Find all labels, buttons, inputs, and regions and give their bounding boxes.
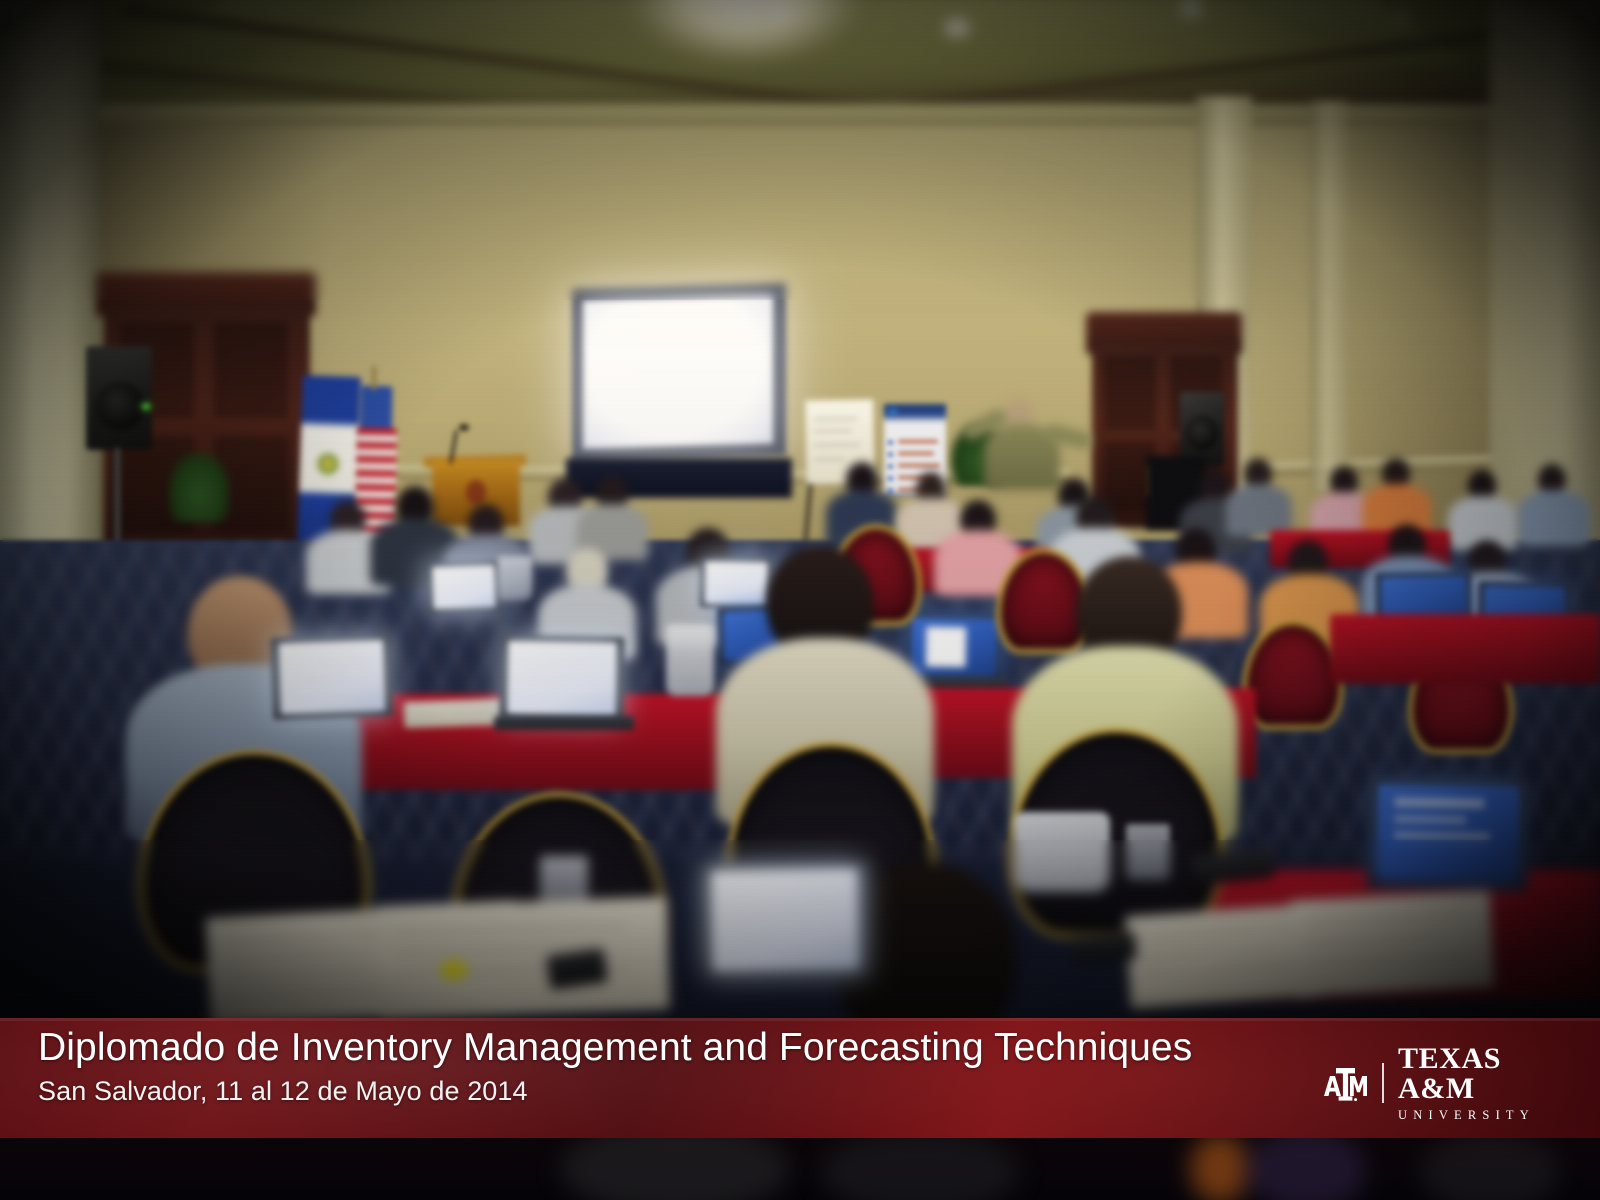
wordmark-texas-am: TEXAS A&M (1398, 1044, 1578, 1104)
recessed-light (1395, 10, 1411, 20)
recessed-light (770, 6, 790, 19)
potted-plant (168, 452, 230, 522)
projection-screen (583, 295, 773, 448)
laptop-screen (1377, 785, 1519, 881)
laptop-screen (711, 869, 859, 972)
drinking-glass (1126, 824, 1170, 880)
photo-bottom-strip (0, 1138, 1600, 1200)
wordmark-university: UNIVERSITY (1398, 1109, 1578, 1122)
texas-am-wordmark: TEXAS A&M UNIVERSITY (1398, 1044, 1578, 1122)
laptop-screen (432, 565, 495, 609)
event-title: Diplomado de Inventory Management and Fo… (38, 1026, 1298, 1070)
course-manual (1290, 891, 1495, 997)
recessed-light (945, 20, 969, 35)
mobile-phone (1071, 931, 1137, 964)
recessed-light (1180, 2, 1202, 15)
event-subtitle: San Salvador, 11 al 12 de Mayo de 2014 (38, 1076, 1138, 1107)
water-pitcher (666, 624, 714, 696)
flag-el-salvador-emblem (316, 452, 340, 476)
banner-top-highlight (0, 1018, 1600, 1021)
lectern-crest (466, 480, 486, 504)
pa-speaker-led (142, 404, 150, 409)
microphone (459, 424, 469, 431)
flag-pole (372, 366, 376, 390)
laptop-base (494, 716, 634, 730)
logo-divider (1382, 1063, 1384, 1103)
texas-am-logo: TEXAS A&M UNIVERSITY (1322, 1056, 1578, 1110)
laptop-screen (507, 641, 616, 715)
highlighter-marker (440, 960, 468, 980)
door-panel (1104, 356, 1156, 430)
rollup-banner-logo (888, 408, 898, 416)
water-pitcher (1014, 812, 1110, 892)
laptop-screen (279, 640, 385, 714)
pa-speaker-cone (1186, 416, 1218, 450)
texas-am-atm-monogram-icon (1322, 1060, 1368, 1106)
table (1330, 614, 1600, 684)
laptop-screen (705, 561, 768, 604)
door-panel (214, 322, 288, 418)
course-manual (376, 897, 670, 1019)
drinking-glass (498, 556, 532, 600)
slide-root: Diplomado de Inventory Management and Fo… (0, 0, 1600, 1200)
pa-speaker-cone (96, 382, 144, 430)
laptop-screen (912, 618, 997, 675)
wall-pilaster (1310, 100, 1348, 490)
